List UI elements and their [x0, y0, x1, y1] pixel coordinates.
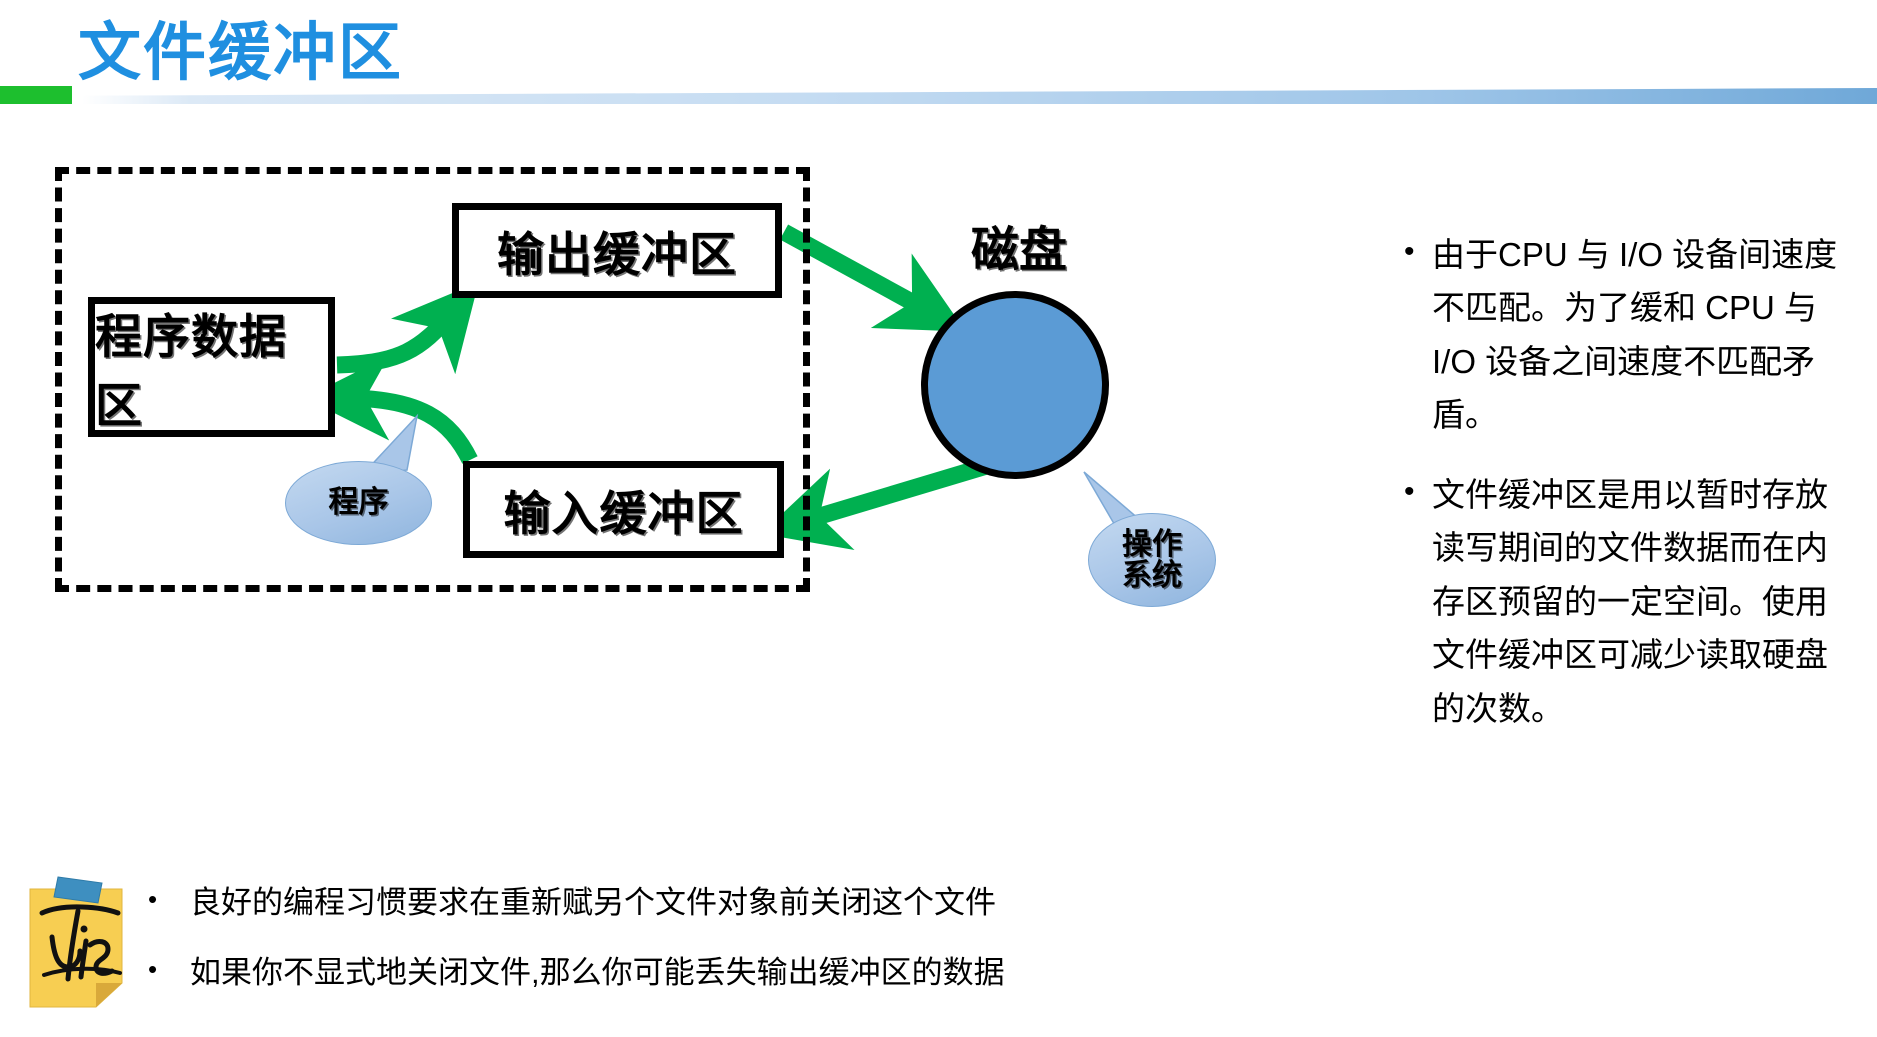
- callout-os-label-2: 系统: [1122, 560, 1182, 592]
- callout-os-label-1: 操作: [1122, 529, 1182, 561]
- bullet-item: • 由于CPU 与 I/O 设备间速度不匹配。为了缓和 CPU 与 I/O 设备…: [1398, 228, 1848, 442]
- tips-bullet-list: • 良好的编程习惯要求在重新赋另个文件对象前关闭这个文件 • 如果你不显式地关闭…: [148, 883, 1648, 1024]
- tip-text: 如果你不显式地关闭文件,那么你可能丢失输出缓冲区的数据: [190, 953, 1005, 993]
- callout-program-label: 程序: [329, 487, 389, 519]
- title-divider: [0, 86, 1877, 108]
- box-program-data-label: 程序数据区: [95, 298, 328, 436]
- bullet-marker: •: [1398, 228, 1432, 442]
- disk-label: 磁盘: [944, 210, 1094, 280]
- box-program-data[interactable]: 程序数据区: [88, 297, 335, 437]
- callout-program[interactable]: 程序: [285, 461, 432, 545]
- disk-circle-shape[interactable]: [921, 291, 1109, 479]
- divider-blue-bar: [82, 88, 1877, 104]
- bullet-text: 由于CPU 与 I/O 设备间速度不匹配。为了缓和 CPU 与 I/O 设备之间…: [1432, 228, 1848, 442]
- divider-green-accent: [0, 86, 72, 104]
- bullet-marker: •: [1398, 468, 1432, 735]
- tips-sticky-note-icon: [24, 875, 134, 1011]
- bullet-text: 文件缓冲区是用以暂时存放读写期间的文件数据而在内存区预留的一定空间。使用文件缓冲…: [1432, 468, 1848, 735]
- tips-section: • 良好的编程习惯要求在重新赋另个文件对象前关闭这个文件 • 如果你不显式地关闭…: [0, 855, 1877, 1037]
- tip-text: 良好的编程习惯要求在重新赋另个文件对象前关闭这个文件: [190, 883, 996, 923]
- tip-marker: •: [148, 953, 190, 993]
- page-title: 文件缓冲区: [78, 2, 403, 93]
- description-bullet-list: • 由于CPU 与 I/O 设备间速度不匹配。为了缓和 CPU 与 I/O 设备…: [1398, 228, 1848, 761]
- box-input-buffer-label: 输入缓冲区: [504, 475, 744, 544]
- box-input-buffer[interactable]: 输入缓冲区: [463, 461, 784, 558]
- callout-os[interactable]: 操作 系统: [1088, 513, 1216, 607]
- slide-root: 文件缓冲区 程序数据区 输出缓冲区: [0, 0, 1877, 1037]
- tip-item: • 良好的编程习惯要求在重新赋另个文件对象前关闭这个文件: [148, 883, 1648, 923]
- box-output-buffer-label: 输出缓冲区: [497, 216, 737, 285]
- box-output-buffer[interactable]: 输出缓冲区: [452, 203, 782, 298]
- tip-item: • 如果你不显式地关闭文件,那么你可能丢失输出缓冲区的数据: [148, 953, 1648, 993]
- tip-marker: •: [148, 883, 190, 923]
- buffer-diagram: 程序数据区 输出缓冲区 输入缓冲区 磁盘 程序 操作 系统: [0, 150, 1300, 620]
- bullet-item: • 文件缓冲区是用以暂时存放读写期间的文件数据而在内存区预留的一定空间。使用文件…: [1398, 468, 1848, 735]
